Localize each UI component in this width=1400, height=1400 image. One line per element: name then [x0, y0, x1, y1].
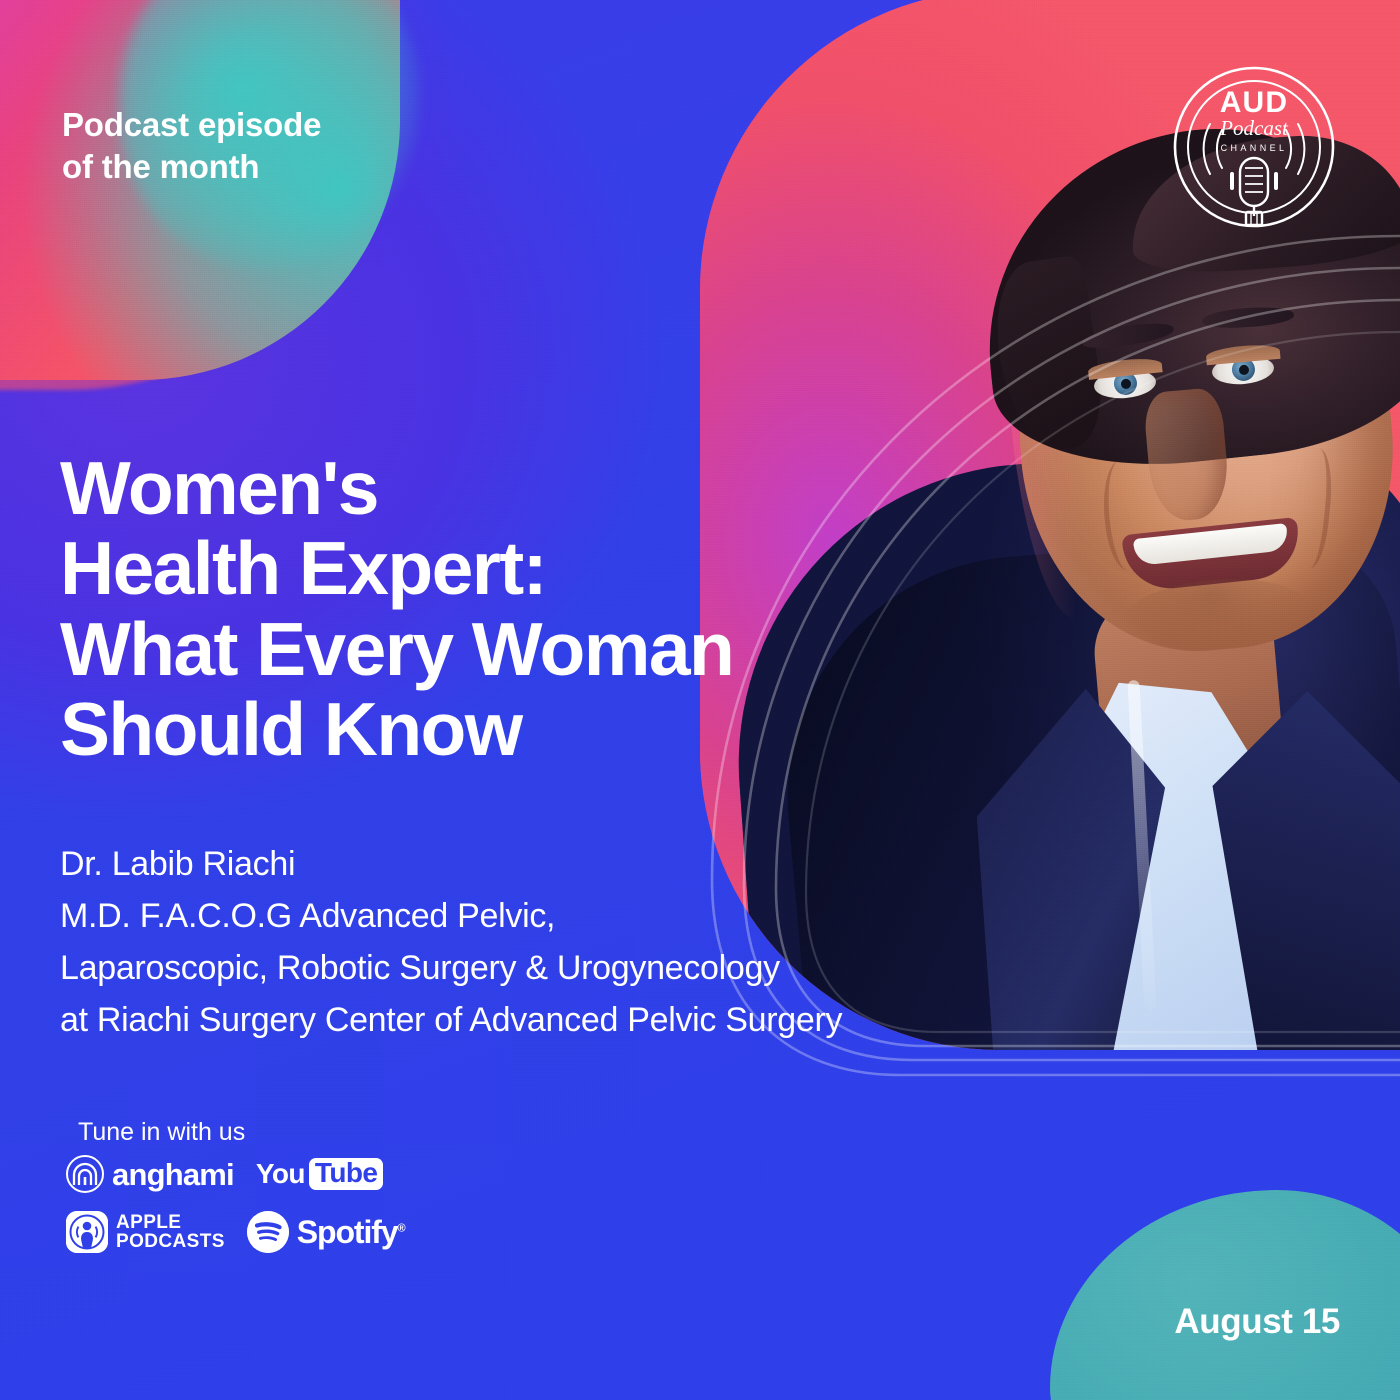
aud-podcast-channel-logo: AUD Podcast CHANNEL	[1172, 62, 1336, 232]
apple-podcasts-icon	[66, 1211, 108, 1253]
guest-name: Dr. Labib Riachi	[60, 838, 1170, 890]
pupil-right	[1238, 364, 1249, 375]
headline-line-1: Women's	[60, 448, 920, 528]
platform-anghami[interactable]: anghami	[66, 1155, 234, 1193]
page-title: Women's Health Expert: What Every Woman …	[60, 448, 920, 769]
headline-line-2: Health Expert:	[60, 528, 920, 608]
youtube-wordmark-you: You	[256, 1160, 305, 1188]
episode-date: August 15	[1174, 1302, 1340, 1342]
credentials-line-4: at Riachi Surgery Center of Advanced Pel…	[60, 994, 1170, 1046]
youtube-wordmark-tube: Tube	[309, 1158, 383, 1190]
apple-podcasts-word-2: PODCASTS	[116, 1232, 225, 1251]
anghami-wordmark: anghami	[112, 1159, 234, 1190]
apple-podcasts-word-1: APPLE	[116, 1213, 225, 1232]
platform-spotify[interactable]: Spotify®	[247, 1211, 405, 1253]
podcast-promo-poster: AUD Podcast CHANNEL Podcast episode of t…	[0, 0, 1400, 1400]
pupil-left	[1120, 378, 1131, 389]
platform-apple-podcasts[interactable]: APPLE PODCASTS	[66, 1211, 225, 1253]
logo-word-script: Podcast	[1219, 116, 1289, 140]
platform-logos: anghami You Tube	[66, 1148, 366, 1258]
tune-in-label: Tune in with us	[78, 1118, 245, 1147]
platform-row-1: anghami You Tube	[66, 1148, 366, 1200]
platform-youtube[interactable]: You Tube	[256, 1158, 383, 1190]
anghami-icon	[66, 1155, 104, 1193]
headline-line-3: What Every Woman	[60, 609, 920, 689]
guest-credentials: Dr. Labib Riachi M.D. F.A.C.O.G Advanced…	[60, 838, 1170, 1046]
eyebrow-line-1: Podcast episode	[62, 104, 482, 146]
microphone-icon	[1232, 158, 1276, 225]
spotify-trademark: ®	[398, 1222, 405, 1234]
apple-podcasts-wordmark: APPLE PODCASTS	[116, 1213, 225, 1252]
logo-word-sub: CHANNEL	[1221, 143, 1288, 153]
spotify-icon	[247, 1211, 289, 1253]
logo-word-main: AUD	[1220, 86, 1289, 119]
spotify-wordmark-text: Spotify	[297, 1214, 398, 1250]
spotify-wordmark: Spotify®	[297, 1216, 405, 1248]
eyebrow-line-2: of the month	[62, 146, 482, 188]
platform-row-2: APPLE PODCASTS Spotify®	[66, 1206, 366, 1258]
eyebrow-label: Podcast episode of the month	[62, 104, 482, 187]
credentials-line-3: Laparoscopic, Robotic Surgery & Urogynec…	[60, 942, 1170, 994]
headline-line-4: Should Know	[60, 689, 920, 769]
credentials-line-2: M.D. F.A.C.O.G Advanced Pelvic,	[60, 890, 1170, 942]
